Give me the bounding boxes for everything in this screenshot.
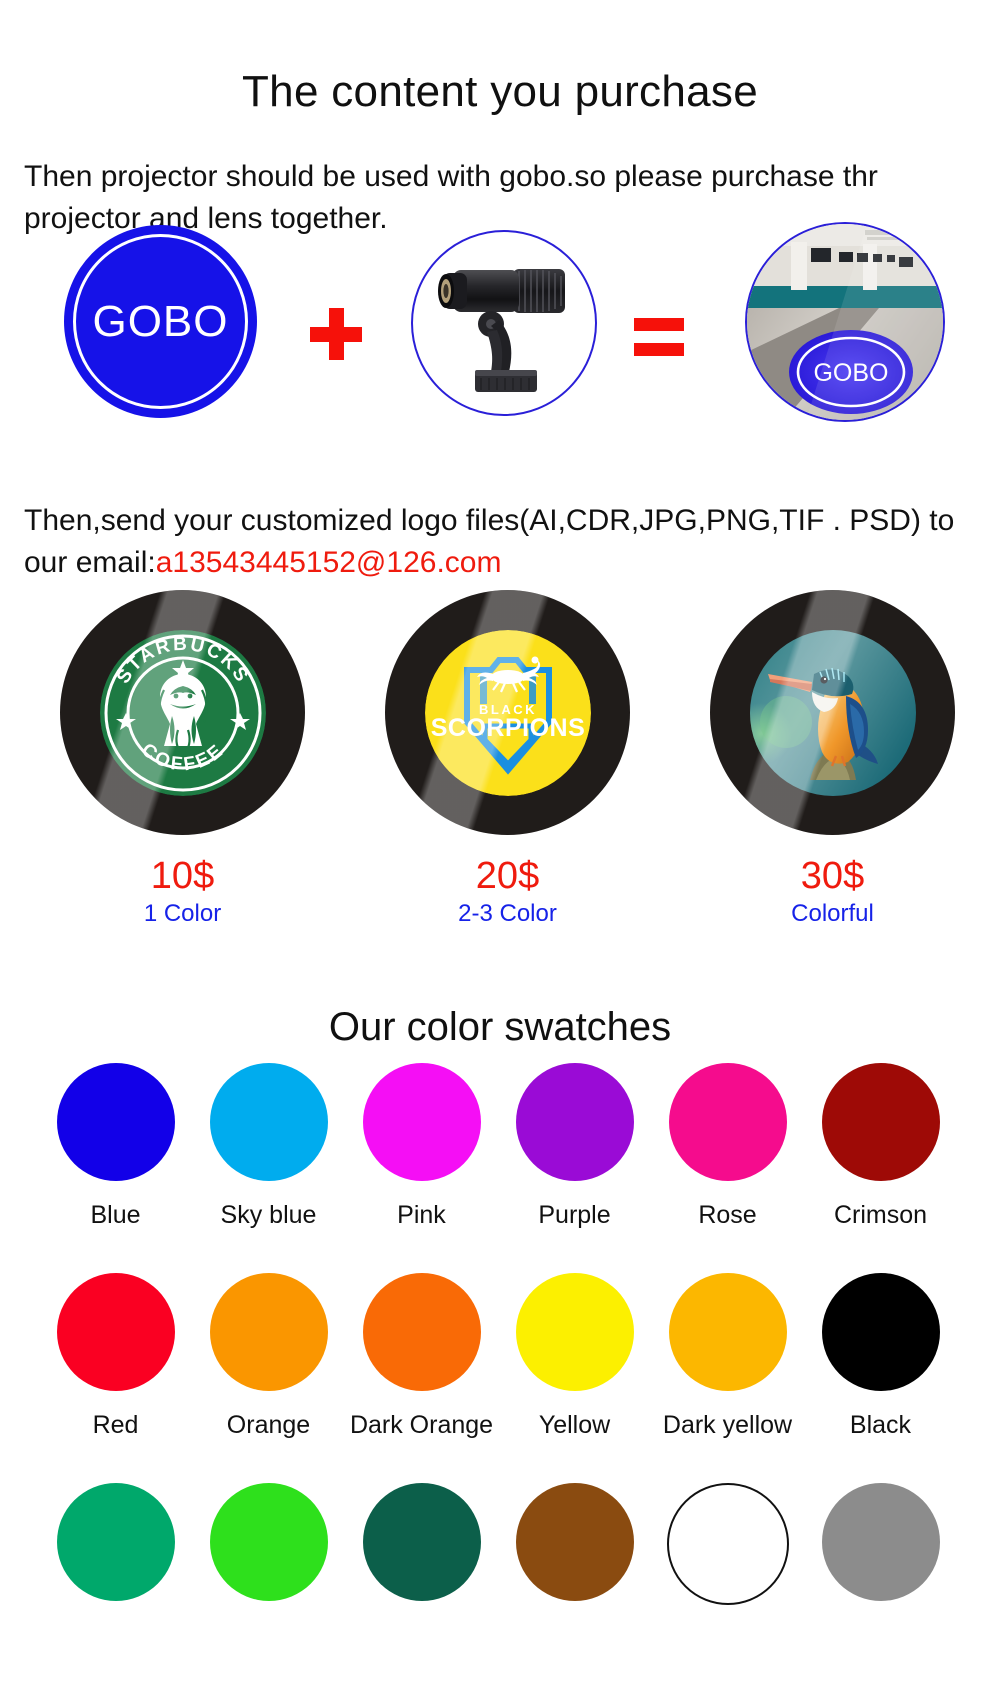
- email-address[interactable]: a13543445152@126.com: [156, 546, 502, 579]
- swatches-title: Our color swatches: [0, 1005, 1000, 1050]
- swatch-label: Pink: [345, 1201, 498, 1230]
- swatch-label: Black: [804, 1411, 957, 1440]
- swatch-label: Purple: [498, 1201, 651, 1230]
- swatch-cell[interactable]: Rose: [651, 1063, 804, 1230]
- swatch-label: Sky blue: [192, 1201, 345, 1230]
- gobo-disc-label: GOBO: [64, 297, 257, 347]
- swatch-dot[interactable]: [57, 1273, 175, 1391]
- swatch-cell[interactable]: [192, 1483, 345, 1621]
- swatch-dot[interactable]: [210, 1273, 328, 1391]
- swatch-dot[interactable]: [669, 1063, 787, 1181]
- scorpions-bottom-text: SCORPIONS: [430, 714, 585, 742]
- price-sub-2: 2-3 Color: [385, 900, 630, 928]
- swatch-cell[interactable]: [804, 1483, 957, 1621]
- swatch-cell[interactable]: [39, 1483, 192, 1621]
- swatch-label: Dark Orange: [345, 1411, 498, 1440]
- gobo-disc-graphic: GOBO: [64, 225, 257, 418]
- swatch-label: Orange: [192, 1411, 345, 1440]
- equation-row: GOBO: [0, 222, 1000, 422]
- swatch-label: Crimson: [804, 1201, 957, 1230]
- swatch-cell[interactable]: Red: [39, 1273, 192, 1440]
- swatch-cell[interactable]: Purple: [498, 1063, 651, 1230]
- swatch-cell[interactable]: Blue: [39, 1063, 192, 1230]
- swatch-dot[interactable]: [516, 1063, 634, 1181]
- swatch-dot[interactable]: [822, 1273, 940, 1391]
- swatch-cell[interactable]: [498, 1483, 651, 1621]
- swatch-label: Rose: [651, 1201, 804, 1230]
- price-sub-3: Colorful: [710, 900, 955, 928]
- swatch-row: [0, 1483, 1000, 1693]
- swatch-dot[interactable]: [822, 1063, 940, 1181]
- gobo-sample-starbucks: STARBUCKS COFFEE: [60, 590, 305, 835]
- starbucks-logo: STARBUCKS COFFEE: [100, 630, 266, 796]
- projector-image: [411, 230, 597, 416]
- swatch-cell[interactable]: Black: [804, 1273, 957, 1440]
- kingfisher-photo: [750, 630, 916, 796]
- swatch-row: RedOrangeDark OrangeYellowDark yellowBla…: [0, 1273, 1000, 1483]
- swatch-label: Red: [39, 1411, 192, 1440]
- email-paragraph: Then,send your customized logo files(AI,…: [24, 500, 984, 584]
- equals-icon: [634, 318, 690, 358]
- price-sub-1: 1 Color: [60, 900, 305, 928]
- swatch-dot[interactable]: [57, 1483, 175, 1601]
- page-title: The content you purchase: [0, 67, 1000, 117]
- swatch-dot[interactable]: [667, 1483, 789, 1605]
- color-swatch-grid: BlueSky bluePinkPurpleRoseCrimsonRedOran…: [0, 1063, 1000, 1693]
- swatch-label: Yellow: [498, 1411, 651, 1440]
- swatch-dot[interactable]: [516, 1273, 634, 1391]
- price-3: 30$: [710, 855, 955, 898]
- swatch-dot[interactable]: [669, 1273, 787, 1391]
- swatch-dot[interactable]: [363, 1483, 481, 1601]
- swatch-cell[interactable]: [345, 1483, 498, 1621]
- swatch-dot[interactable]: [210, 1483, 328, 1601]
- gobo-sample-kingfisher: [710, 590, 955, 835]
- swatch-cell[interactable]: Orange: [192, 1273, 345, 1440]
- swatch-dot[interactable]: [210, 1063, 328, 1181]
- swatch-cell[interactable]: Sky blue: [192, 1063, 345, 1230]
- swatch-cell[interactable]: [651, 1483, 804, 1625]
- result-photo: GOBO: [745, 222, 945, 422]
- price-2: 20$: [385, 855, 630, 898]
- swatch-dot[interactable]: [516, 1483, 634, 1601]
- swatch-dot[interactable]: [363, 1273, 481, 1391]
- swatch-cell[interactable]: Crimson: [804, 1063, 957, 1230]
- gobo-sample-scorpions: BLACK SCORPIONS: [385, 590, 630, 835]
- swatch-dot[interactable]: [363, 1063, 481, 1181]
- swatch-dot[interactable]: [822, 1483, 940, 1601]
- black-scorpions-logo: BLACK SCORPIONS: [425, 630, 591, 796]
- swatch-cell[interactable]: Dark yellow: [651, 1273, 804, 1440]
- swatch-label: Blue: [39, 1201, 192, 1230]
- swatch-cell[interactable]: Dark Orange: [345, 1273, 498, 1440]
- swatch-dot[interactable]: [57, 1063, 175, 1181]
- projector-fins: [513, 269, 565, 313]
- price-1: 10$: [60, 855, 305, 898]
- plus-icon: [310, 308, 366, 364]
- swatch-cell[interactable]: Pink: [345, 1063, 498, 1230]
- swatch-row: BlueSky bluePinkPurpleRoseCrimson: [0, 1063, 1000, 1273]
- swatch-label: Dark yellow: [651, 1411, 804, 1440]
- swatch-cell[interactable]: Yellow: [498, 1273, 651, 1440]
